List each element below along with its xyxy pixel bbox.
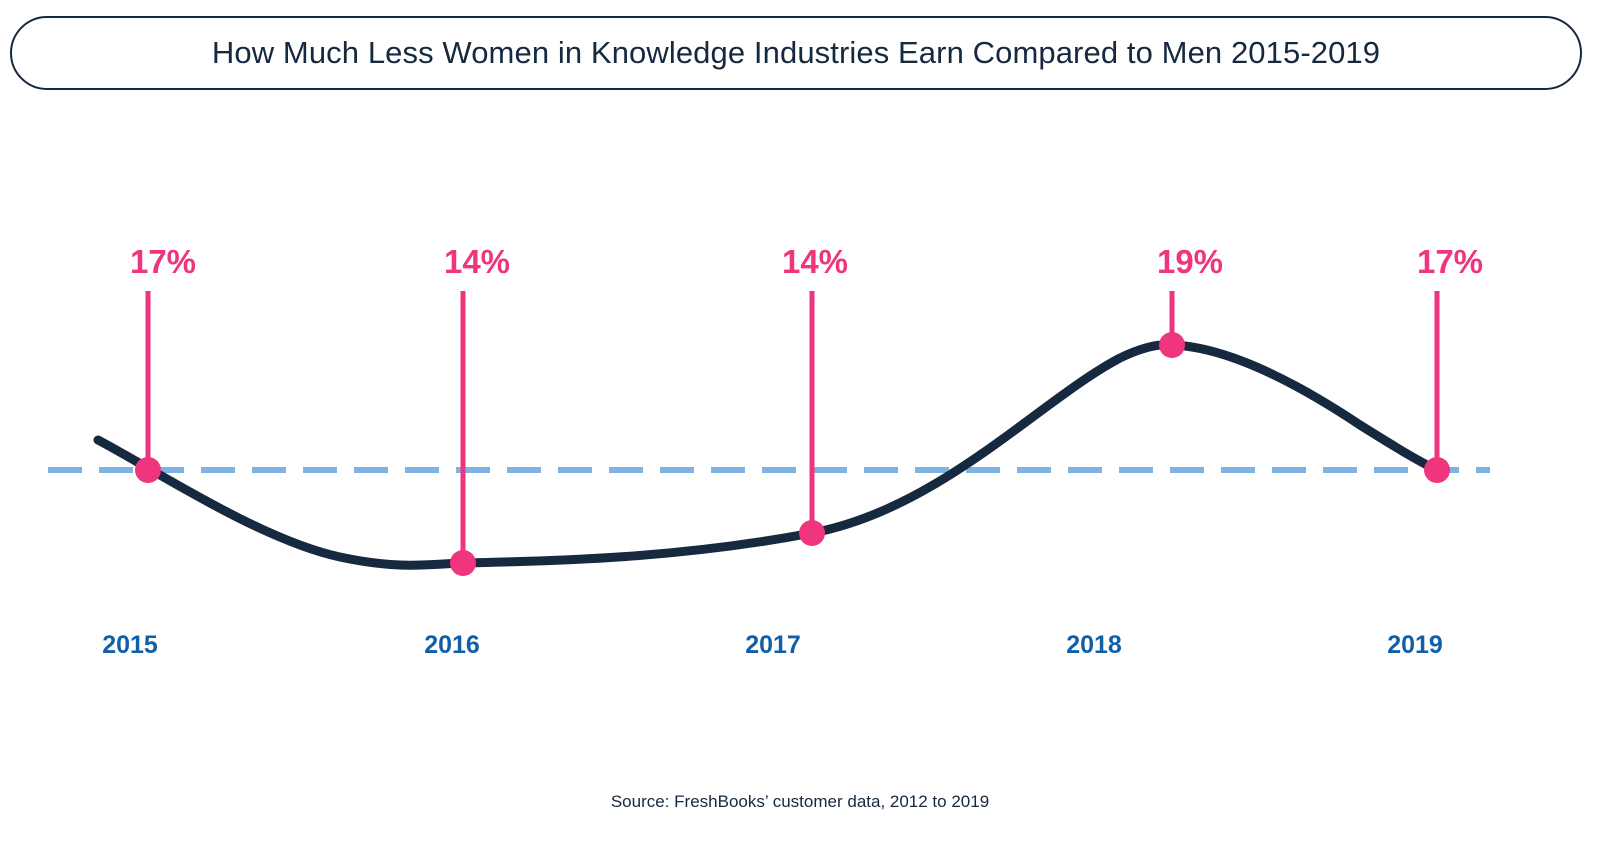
title-banner: How Much Less Women in Knowledge Industr… bbox=[10, 16, 1582, 90]
source-note: Source: FreshBooks’ customer data, 2012 … bbox=[0, 792, 1600, 812]
data-point-2019[interactable] bbox=[1424, 457, 1450, 483]
value-label-2016: 14% bbox=[444, 243, 510, 281]
year-label-2015: 2015 bbox=[102, 631, 158, 660]
line-chart-canvas bbox=[0, 0, 1600, 856]
value-label-2015: 17% bbox=[130, 243, 196, 281]
page-title: How Much Less Women in Knowledge Industr… bbox=[212, 35, 1380, 71]
year-label-2019: 2019 bbox=[1387, 631, 1443, 660]
data-point-2018[interactable] bbox=[1159, 332, 1185, 358]
value-label-2017: 14% bbox=[782, 243, 848, 281]
trend-curve bbox=[98, 345, 1437, 565]
value-label-2019: 17% bbox=[1417, 243, 1483, 281]
infographic-root: How Much Less Women in Knowledge Industr… bbox=[0, 0, 1600, 856]
data-point-2017[interactable] bbox=[799, 520, 825, 546]
year-label-2018: 2018 bbox=[1066, 631, 1122, 660]
year-label-2017: 2017 bbox=[745, 631, 801, 660]
data-point-2016[interactable] bbox=[450, 550, 476, 576]
value-label-2018: 19% bbox=[1157, 243, 1223, 281]
year-label-2016: 2016 bbox=[424, 631, 480, 660]
data-point-2015[interactable] bbox=[135, 457, 161, 483]
